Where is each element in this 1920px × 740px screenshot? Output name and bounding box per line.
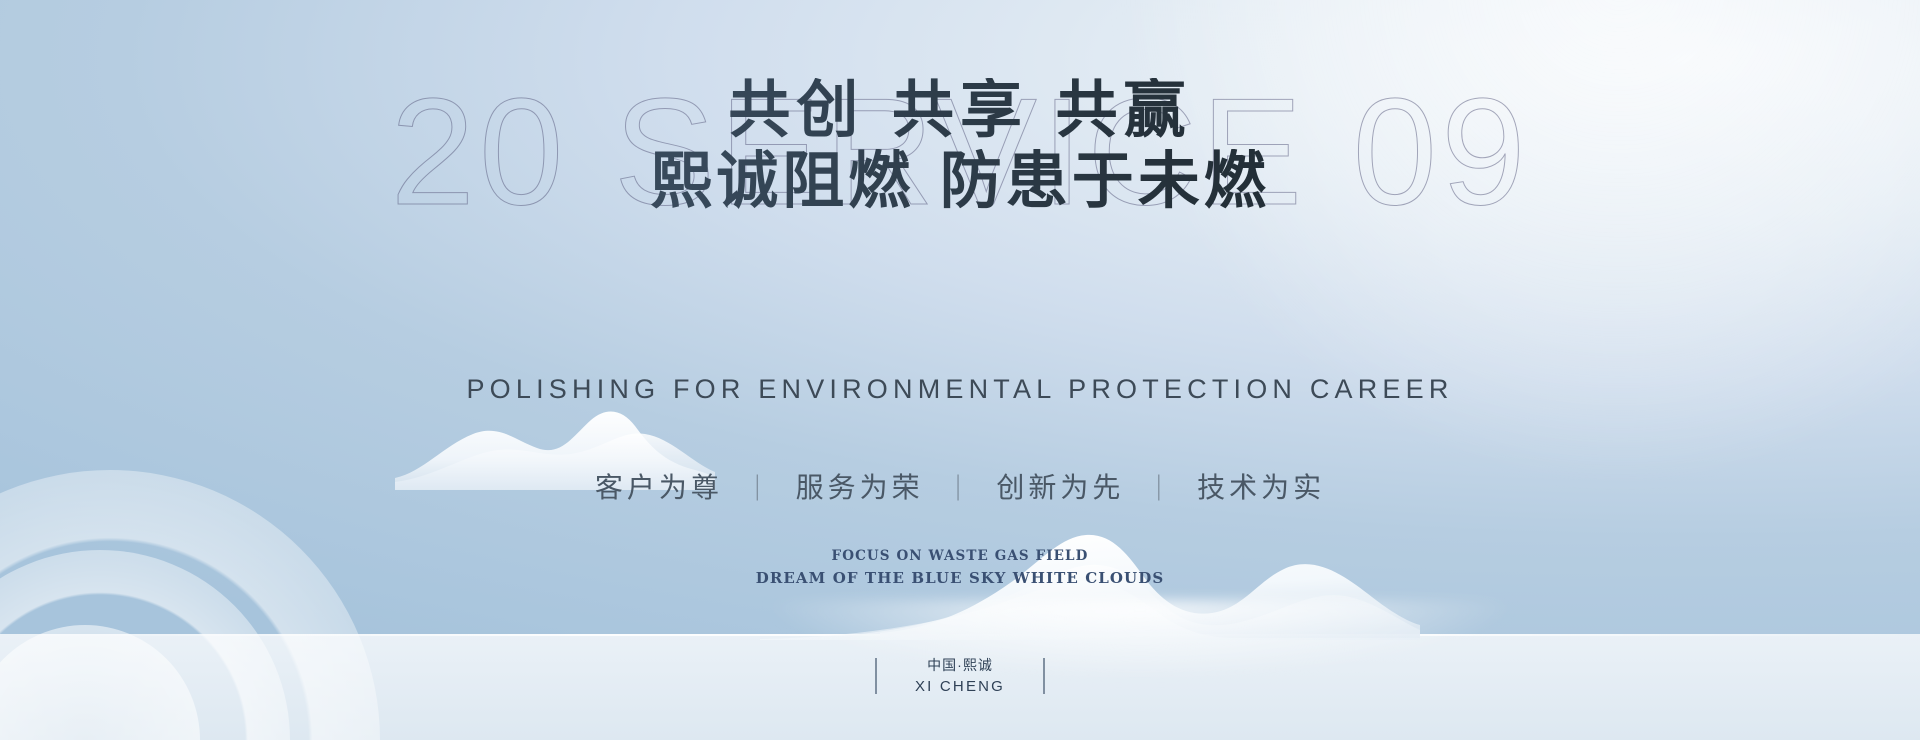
slogan-line-2: DREAM OF THE BLUE SKY WHITE CLOUDS: [0, 569, 1920, 587]
ghost-type-text: 20 SERVICE 09: [390, 76, 1529, 228]
headline-block: 共创 共享 共赢 熙诚阻燃 防患于未燃: [0, 78, 1920, 212]
top-right-ring-outer: [990, 0, 1920, 620]
value-item-3: 创新为先: [996, 466, 1124, 506]
ghost-type-wrapper: 20 SERVICE 09: [0, 72, 1920, 232]
signature-english: XI CHENG: [915, 676, 1005, 698]
top-right-ring-inner: [1390, 0, 1920, 230]
value-separator-1: |: [723, 471, 796, 501]
banner-stage: 20 SERVICE 09 共创 共享 共赢 熙诚阻燃 防患于未燃 POLISH…: [0, 0, 1920, 740]
value-item-1: 客户为尊: [595, 466, 723, 506]
top-right-ring-middle: [1180, 0, 1920, 430]
slogan-block: FOCUS ON WASTE GAS FIELD DREAM OF THE BL…: [0, 548, 1920, 587]
headline-line-2: 熙诚阻燃 防患于未燃: [0, 149, 1920, 212]
signature-chinese: 中国·熙诚: [915, 655, 1005, 676]
signature-divider-left: [875, 658, 877, 694]
value-item-2: 服务为荣: [796, 466, 924, 506]
value-item-4: 技术为实: [1197, 466, 1325, 506]
signature-block: 中国·熙诚 XI CHENG: [0, 655, 1920, 698]
value-separator-3: |: [1124, 471, 1197, 501]
headline-line-1: 共创 共享 共赢: [0, 78, 1920, 141]
top-right-glow: [1120, 0, 1920, 480]
signature-divider-right: [1043, 658, 1045, 694]
slogan-line-1: FOCUS ON WASTE GAS FIELD: [0, 548, 1920, 564]
values-row: 客户为尊 | 服务为荣 | 创新为先 | 技术为实: [0, 466, 1920, 506]
english-caption: POLISHING FOR ENVIRONMENTAL PROTECTION C…: [0, 374, 1920, 405]
signature-text: 中国·熙诚 XI CHENG: [915, 655, 1005, 698]
value-separator-2: |: [924, 471, 997, 501]
